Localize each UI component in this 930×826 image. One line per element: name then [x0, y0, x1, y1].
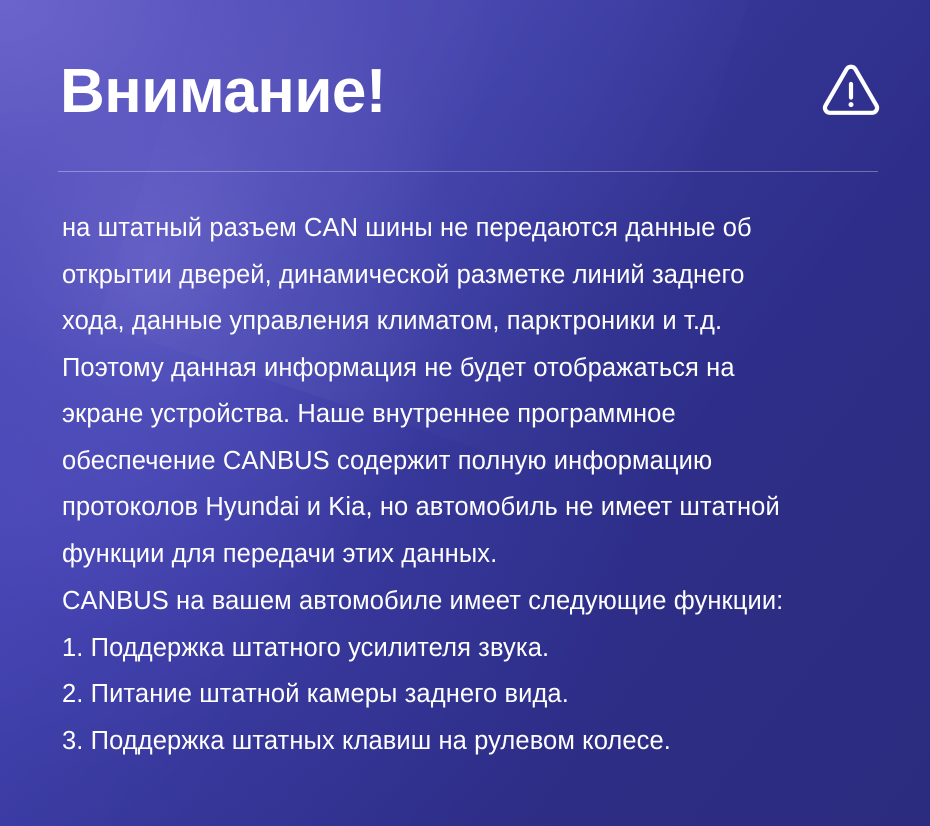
header-divider [58, 171, 878, 172]
features-section: CANBUS на вашем автомобиле имеет следующ… [62, 578, 890, 764]
list-item: 3. Поддержка штатных клавиш на рулевом к… [62, 718, 890, 765]
notice-paragraph: на штатный разъем CAN шины не передаются… [62, 205, 890, 577]
page-title: Внимание! [60, 56, 880, 128]
notice-line: функции для передачи этих данных. [62, 531, 890, 578]
notice-line: протоколов Hyundai и Kia, но автомобиль … [62, 484, 890, 531]
features-intro: CANBUS на вашем автомобиле имеет следующ… [62, 578, 890, 625]
notice-line: на штатный разъем CAN шины не передаются… [62, 205, 890, 252]
warning-banner: Внимание! на штатный разъем CAN шины не … [0, 0, 930, 826]
notice-line: хода, данные управления климатом, парктр… [62, 298, 890, 345]
notice-line: Поэтому данная информация не будет отобр… [62, 345, 890, 392]
notice-line: открытии дверей, динамической разметке л… [62, 252, 890, 299]
list-item: 1. Поддержка штатного усилителя звука. [62, 625, 890, 672]
notice-line: экране устройства. Наше внутреннее прогр… [62, 391, 890, 438]
notice-line: обеспечение CANBUS содержит полную инфор… [62, 438, 890, 485]
warning-triangle-icon [822, 64, 880, 118]
list-item: 2. Питание штатной камеры заднего вида. [62, 671, 890, 718]
features-list: 1. Поддержка штатного усилителя звука. 2… [62, 625, 890, 765]
banner-header: Внимание! [60, 56, 880, 128]
